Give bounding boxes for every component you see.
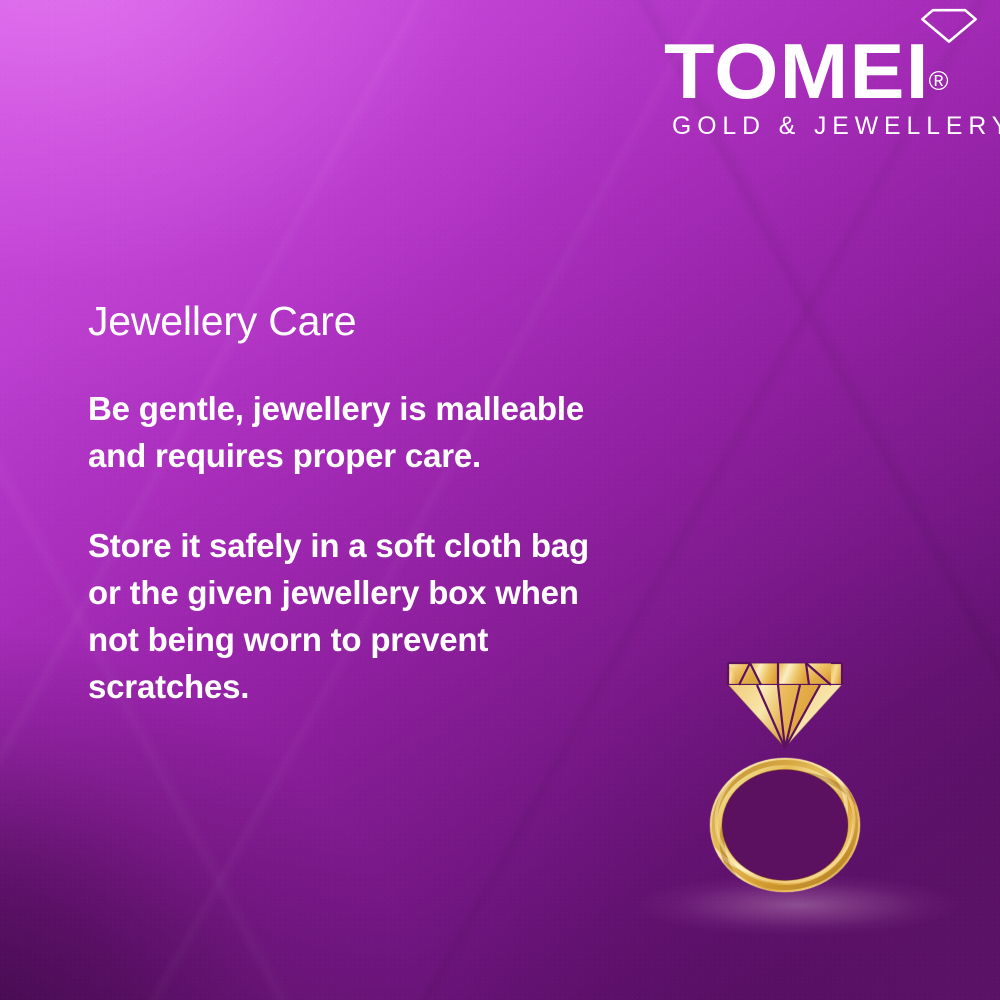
care-paragraph-2-line: scratches.: [88, 663, 648, 710]
care-paragraph-2-line: or the given jewellery box when: [88, 569, 648, 616]
tomei-logo: TOMEI ® GOLD & JEWELLERY: [664, 6, 984, 138]
care-paragraph-2-line: Store it safely in a soft cloth bag: [88, 522, 648, 569]
logo-wordmark-row: TOMEI ®: [664, 32, 948, 110]
logo-tagline: GOLD & JEWELLERY: [672, 112, 1000, 140]
care-paragraph-1-line: and requires proper care.: [88, 432, 648, 479]
page-title: Jewellery Care: [88, 296, 356, 346]
care-paragraph-2-line: not being worn to prevent: [88, 616, 648, 663]
registered-trademark-icon: ®: [929, 68, 949, 95]
jewellery-care-poster: TOMEI ® GOLD & JEWELLERY Jewellery Care …: [0, 0, 1000, 1000]
ring-band-icon: [698, 742, 870, 906]
ring-graphic: [668, 630, 918, 950]
logo-wordmark: TOMEI: [664, 32, 930, 110]
care-paragraph-1: Be gentle, jewellery is malleable and re…: [88, 385, 648, 479]
care-paragraph-2: Store it safely in a soft cloth bag or t…: [88, 522, 648, 710]
diamond-ring-illustration: [668, 630, 918, 950]
diamond-gem-icon: [728, 663, 842, 748]
care-paragraph-1-line: Be gentle, jewellery is malleable: [88, 385, 648, 432]
